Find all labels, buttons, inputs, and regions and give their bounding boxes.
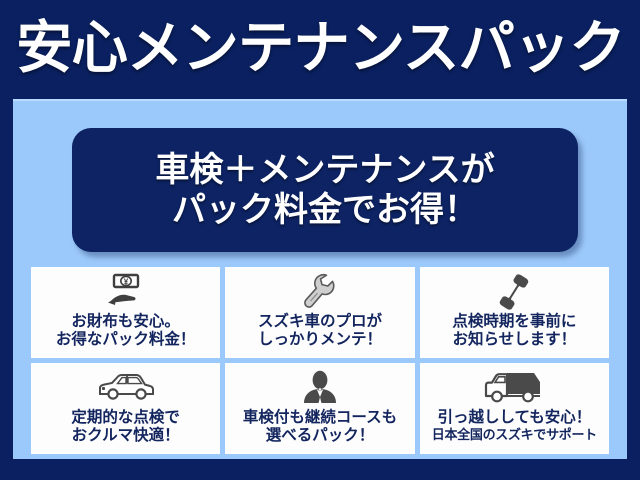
maintenance-pack-poster: 安心メンテナンスパック 車検＋メンテナンスが パック料金でお得！ ¥ <box>0 0 640 480</box>
feature-text: 車検付も継続コースも 選べるパック！ <box>243 409 397 445</box>
feature-cell-wallet: ¥ お財布も安心。 お得なパック料金！ <box>31 267 220 358</box>
car-icon <box>96 368 156 408</box>
body-panel: 車検＋メンテナンスが パック料金でお得！ ¥ お財布も安心。 <box>13 99 627 459</box>
businessman-icon <box>299 368 341 408</box>
telephone-icon <box>494 272 534 312</box>
moving-truck-icon <box>483 368 545 408</box>
feature-line-2: お知らせします！ <box>452 331 576 349</box>
feature-line-2: 選べるパック！ <box>243 427 397 445</box>
feature-line-1: お財布も安心。 <box>56 313 196 331</box>
feature-text: 点検時期を事前に お知らせします！ <box>452 313 576 349</box>
subtitle-line-1: 車検＋メンテナンスが <box>155 150 494 190</box>
feature-cell-nationwide-support: 引っ越ししても安心！ 日本全国のスズキでサポート <box>420 363 609 454</box>
page-title: 安心メンテナンスパック <box>16 20 625 77</box>
svg-text:¥: ¥ <box>123 277 128 286</box>
feature-line-1: 点検時期を事前に <box>452 313 576 331</box>
feature-text: 定期的な点検で おクルマ快適！ <box>71 409 180 445</box>
money-in-hand-icon: ¥ <box>103 272 149 312</box>
feature-text: お財布も安心。 お得なパック料金！ <box>56 313 196 349</box>
feature-line-2: しっかりメンテ！ <box>258 331 382 349</box>
feature-text: 引っ越ししても安心！ 日本全国のスズキでサポート <box>432 409 597 442</box>
feature-line-1: 引っ越ししても安心！ <box>432 409 597 427</box>
poster-footer <box>0 459 640 480</box>
wrench-icon <box>299 272 341 312</box>
feature-line-2: おクルマ快適！ <box>71 427 180 445</box>
feature-cell-pro-maintenance: スズキ車のプロが しっかりメンテ！ <box>225 267 414 358</box>
feature-cell-regular-inspection: 定期的な点検で おクルマ快適！ <box>31 363 220 454</box>
feature-line-2: お得なパック料金！ <box>56 331 196 349</box>
feature-grid: ¥ お財布も安心。 お得なパック料金！ <box>31 267 609 454</box>
feature-cell-inspection-reminder: 点検時期を事前に お知らせします！ <box>420 267 609 358</box>
feature-line-1: 定期的な点検で <box>71 409 180 427</box>
feature-text: スズキ車のプロが しっかりメンテ！ <box>258 313 382 349</box>
feature-cell-course-choice: 車検付も継続コースも 選べるパック！ <box>225 363 414 454</box>
subtitle-line-2: パック料金でお得！ <box>172 190 478 230</box>
feature-line-1: スズキ車のプロが <box>258 313 382 331</box>
feature-line-1: 車検付も継続コースも <box>243 409 397 427</box>
feature-line-2: 日本全国のスズキでサポート <box>432 427 597 442</box>
poster-header: 安心メンテナンスパック <box>0 0 640 96</box>
subtitle-banner: 車検＋メンテナンスが パック料金でお得！ <box>72 128 578 252</box>
